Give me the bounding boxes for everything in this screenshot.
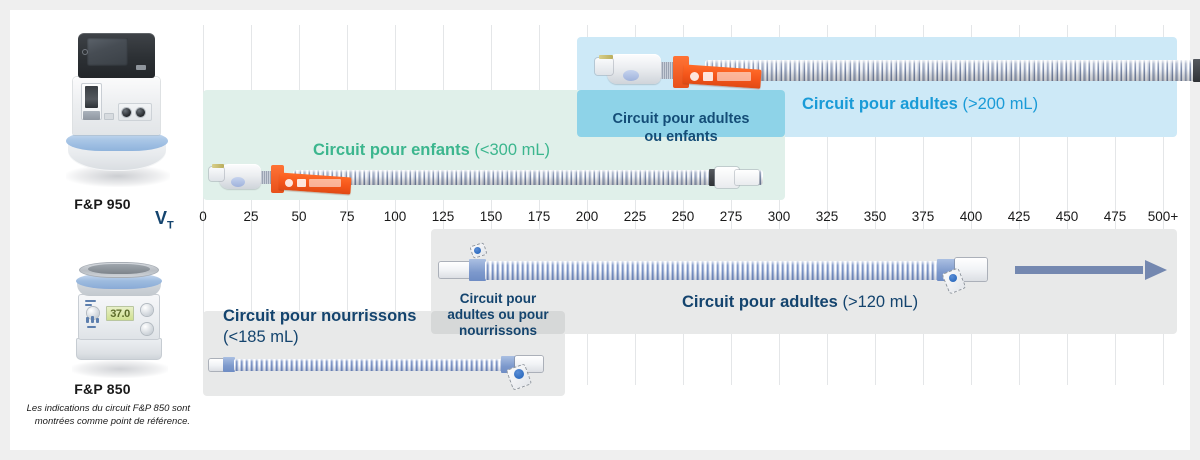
device-950-chamber-insert — [85, 86, 98, 108]
label-pediatric-950-bold: Circuit pour enfants — [313, 141, 470, 159]
axis-title-main: V — [155, 208, 167, 228]
label-adult-950-rest: (>200 mL) — [958, 95, 1038, 113]
label-overlap-850: Circuit pour adultes ou pour nourrissons — [438, 291, 558, 340]
probe-dot-infant-850 — [514, 369, 524, 379]
device-950-port-2 — [136, 108, 145, 117]
label-overlap-950-line2: ou enfants — [593, 129, 769, 147]
circuit-infant-850 — [209, 348, 559, 390]
battery-icon — [136, 65, 146, 70]
corrugated-tube-infant-850 — [234, 359, 504, 371]
circuit-adult-850 — [439, 250, 1049, 290]
connector-blue-button-adult-950 — [623, 70, 639, 81]
connector-left-adult-850 — [439, 262, 473, 278]
connector-left-blue-adult-850 — [469, 259, 486, 281]
axis-tick-15: 375 — [912, 209, 935, 224]
corrugated-tube-adult-850 — [485, 261, 941, 280]
label-infant-850-rest: (<185 mL) — [223, 328, 299, 346]
axis-tick-18: 450 — [1056, 209, 1079, 224]
axis-tick-17: 425 — [1008, 209, 1031, 224]
device-image-950 — [60, 25, 175, 190]
label-overlap-850-line2: adultes ou pour — [438, 307, 558, 323]
tag-icon-warning-ped — [285, 179, 293, 187]
device-label-850: F&P 850 — [10, 381, 195, 397]
label-adult-950-bold: Circuit pour adultes — [802, 95, 958, 113]
axis-tick-13: 325 — [816, 209, 839, 224]
device-850-shadow — [72, 360, 168, 378]
label-adult-950: Circuit pour adultes (>200 mL) — [802, 95, 1038, 114]
label-infant-850: Circuit pour nourrissons (<185 mL) — [223, 306, 438, 347]
device-950-port-1 — [122, 108, 131, 117]
axis-tick-20: 500+ — [1148, 209, 1178, 224]
device-850-panel-markings — [85, 298, 105, 332]
figure-card: F&P 950 37.0 — [10, 10, 1190, 450]
footnote-text: Les indications du circuit F&P 850 sont … — [22, 402, 190, 429]
connector-blue-button-ped-950 — [231, 177, 245, 187]
arrow-right-icon-850 — [1015, 260, 1167, 280]
axis-tick-8: 200 — [576, 209, 599, 224]
arrow-shaft-850 — [1015, 266, 1143, 274]
probe-dot-right-adult-850 — [949, 274, 957, 282]
label-overlap-850-line3: nourrissons — [438, 323, 558, 339]
axis-tick-2: 50 — [291, 209, 306, 224]
tag-icon-text-ped — [309, 179, 341, 187]
device-950-chamber-base — [83, 111, 100, 120]
tag-icon-text — [717, 72, 751, 81]
corrugated-tube-adult-950-b — [705, 60, 1175, 81]
label-adult-850: Circuit pour adultes (>120 mL) — [682, 293, 918, 312]
connector-contacts-ped-950 — [212, 164, 224, 168]
probe-dot-left-adult-850 — [474, 247, 481, 254]
device-950-latch — [104, 113, 114, 120]
axis-tick-10: 250 — [672, 209, 695, 224]
connector-contacts-adult-950 — [599, 55, 613, 59]
tag-icon-duration — [703, 72, 713, 81]
device-950-screen — [87, 38, 128, 66]
connector-cap-ped-950 — [209, 167, 224, 181]
tube-end-ring-adult-950 — [1193, 59, 1200, 82]
label-adult-850-bold: Circuit pour adultes — [682, 293, 838, 311]
label-overlap-950-line1: Circuit pour adultes — [593, 111, 769, 129]
power-button-icon — [82, 49, 88, 55]
device-850-knob-3 — [141, 323, 153, 335]
device-850-foot — [76, 338, 162, 360]
label-overlap-850-line1: Circuit pour — [438, 291, 558, 307]
axis-tick-12: 300 — [768, 209, 791, 224]
tag-icon-warning — [690, 72, 699, 81]
label-overlap-950: Circuit pour adultes ou enfants — [593, 111, 769, 146]
label-infant-850-bold: Circuit pour nourrissons — [223, 307, 416, 325]
circuit-pediatric-950 — [209, 158, 769, 202]
axis-tick-3: 75 — [339, 209, 354, 224]
label-adult-850-rest: (>120 mL) — [838, 293, 918, 311]
axis-title: VT — [155, 208, 174, 232]
chart-area: Circuit pour enfants (<300 mL) Circuit p… — [195, 10, 1190, 450]
axis-tick-16: 400 — [960, 209, 983, 224]
device-image-850: 37.0 — [62, 260, 177, 380]
axis-tick-0: 0 — [199, 209, 207, 224]
axis-tick-1: 25 — [243, 209, 258, 224]
circuit-adult-950 — [593, 46, 1173, 94]
label-pediatric-950: Circuit pour enfants (<300 mL) — [313, 141, 550, 160]
axis-tick-5: 125 — [432, 209, 455, 224]
axis-tick-14: 350 — [864, 209, 887, 224]
axis-tick-7: 175 — [528, 209, 551, 224]
axis-title-subscript: T — [167, 220, 174, 232]
axis-tick-9: 225 — [624, 209, 647, 224]
tag-icon-duration-ped — [297, 179, 306, 187]
device-850-chamber-lid-inner — [88, 264, 150, 274]
connector-cap-adult-950 — [595, 58, 613, 75]
device-850-temperature-display: 37.0 — [106, 306, 134, 321]
label-pediatric-950-rest: (<300 mL) — [470, 141, 550, 159]
axis-tick-6: 150 — [480, 209, 503, 224]
axis-tick-11: 275 — [720, 209, 743, 224]
arrow-head-850 — [1145, 260, 1167, 280]
device-850-knob-2 — [141, 304, 153, 316]
figure-root: F&P 950 37.0 — [0, 0, 1200, 460]
axis-tick-19: 475 — [1104, 209, 1127, 224]
axis-tick-4: 100 — [384, 209, 407, 224]
corrugated-tube-ped-950 — [293, 170, 763, 185]
tube-end-tip2-ped-950 — [735, 170, 759, 185]
